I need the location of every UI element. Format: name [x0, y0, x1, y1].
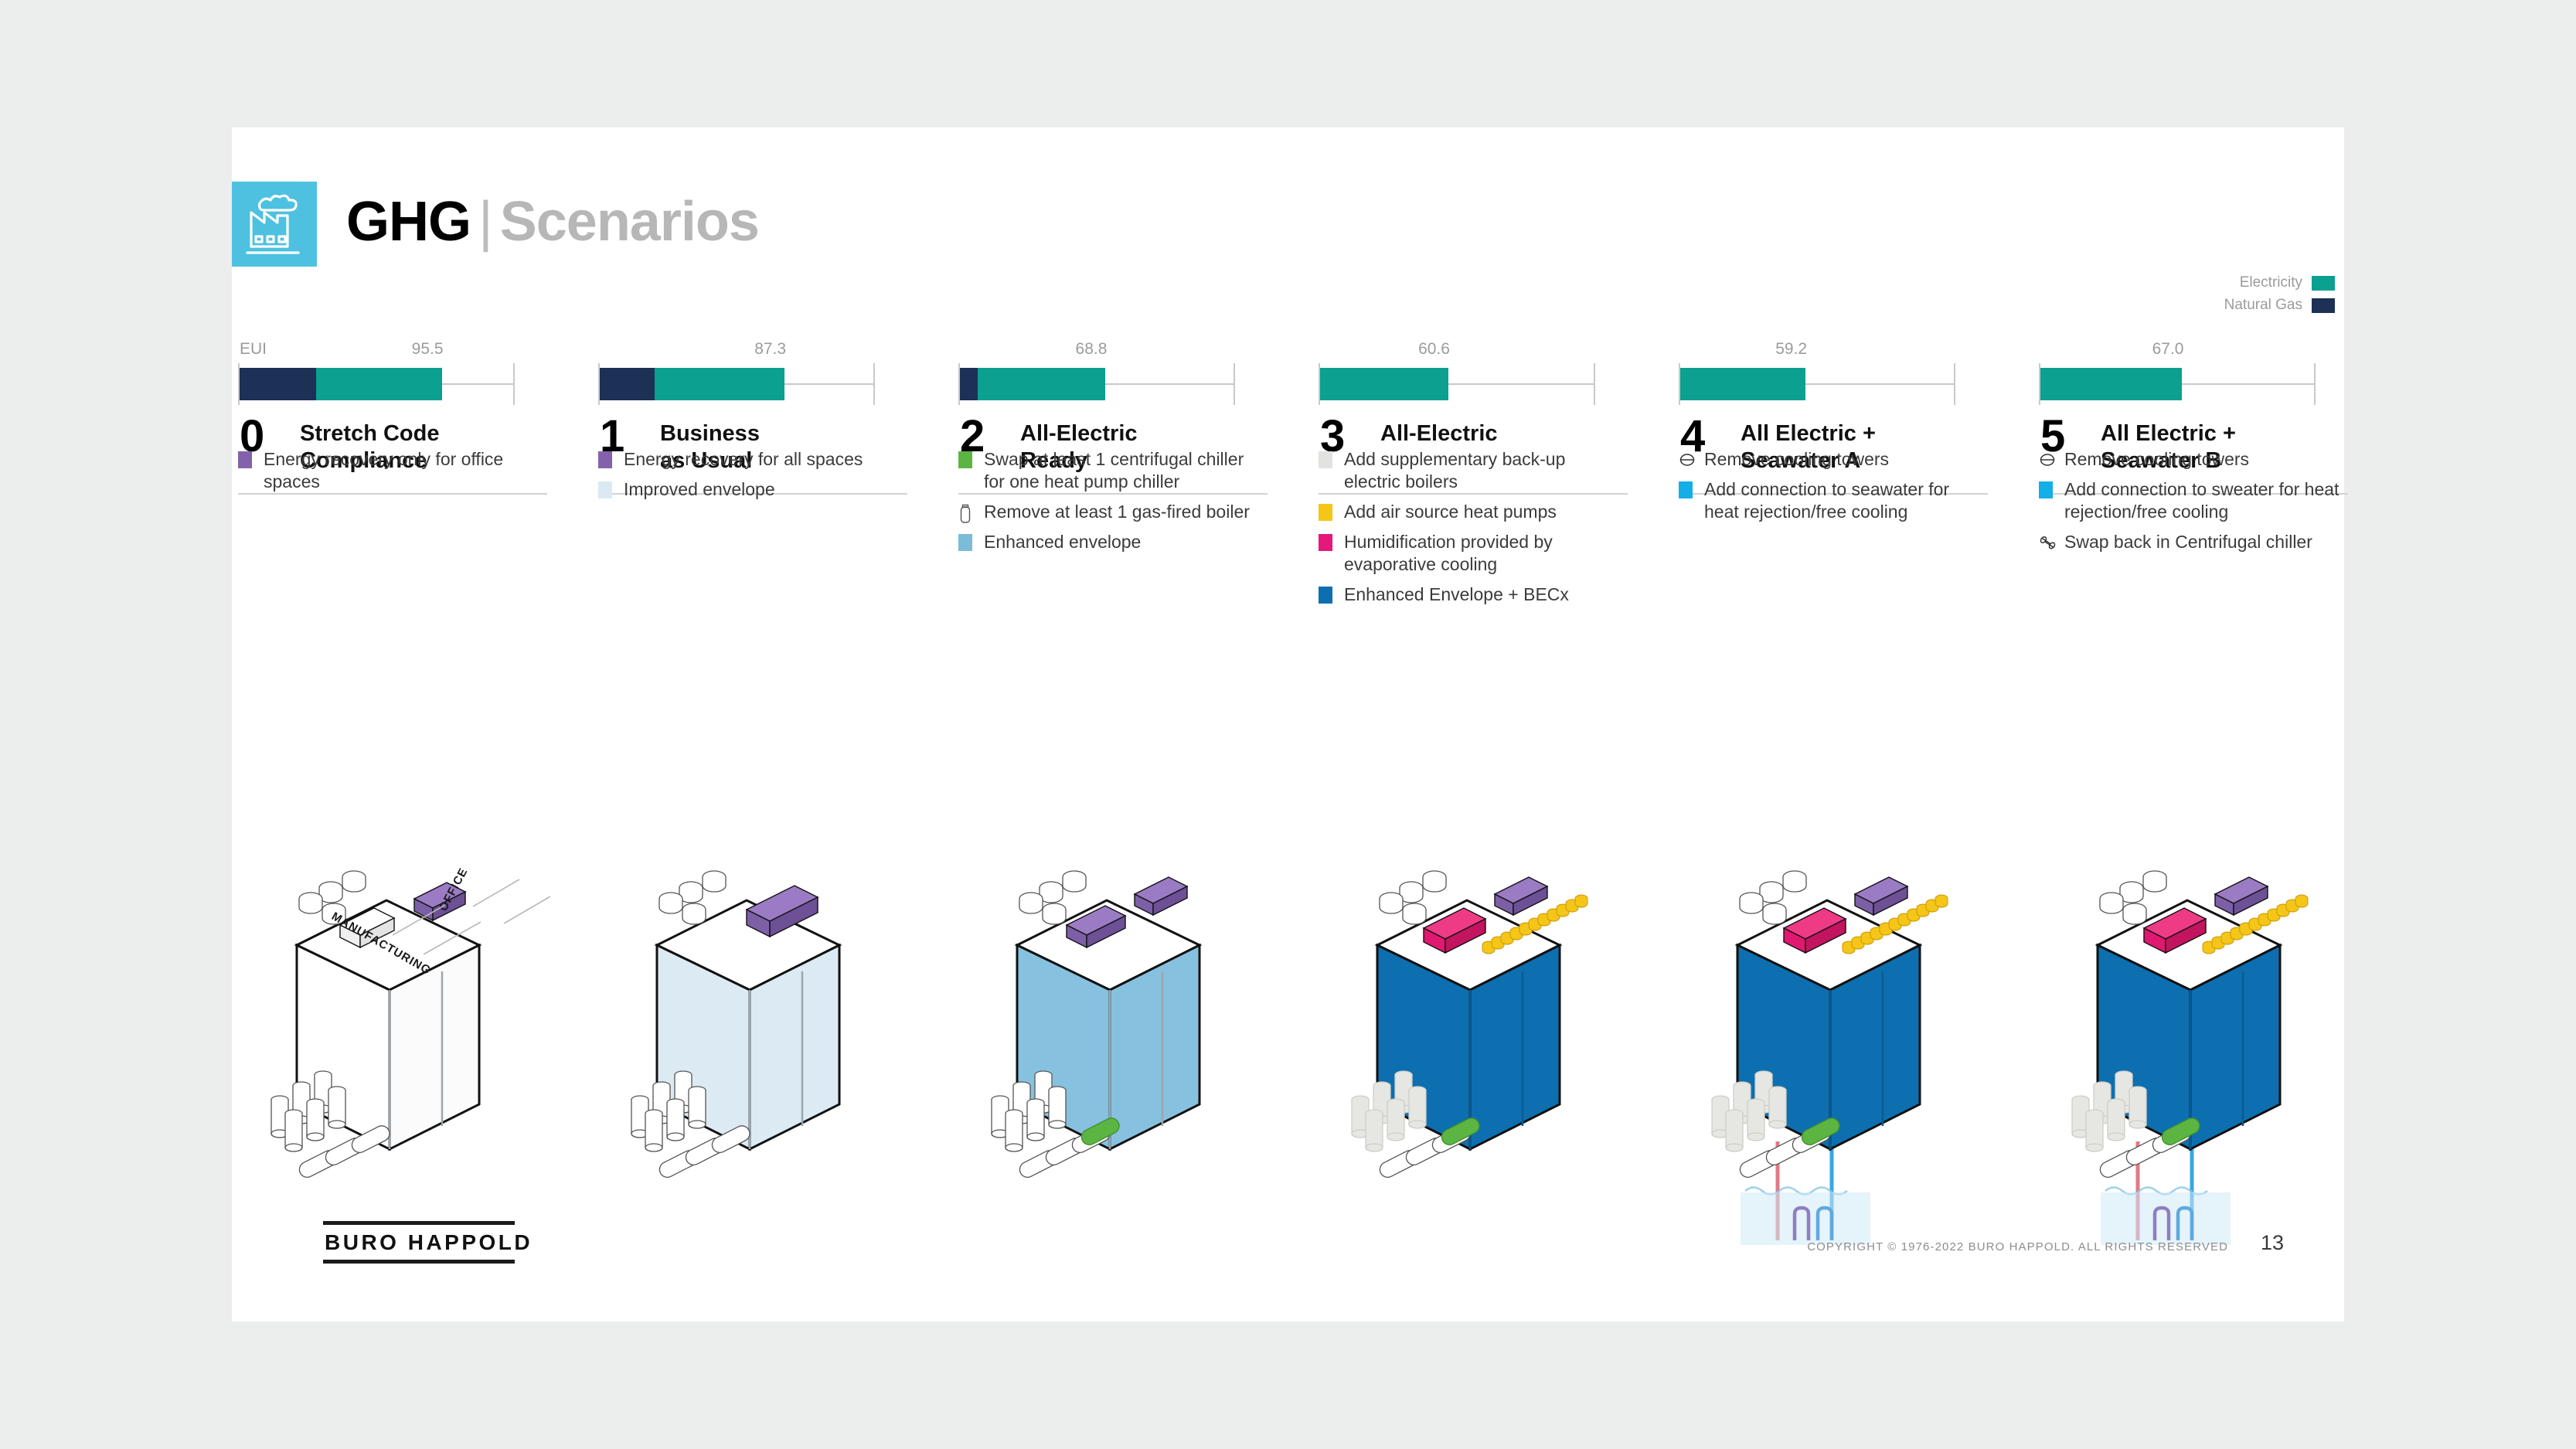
- scenario-bullet-list-2: Swap at least 1 centrifugal chiller for …: [958, 448, 1260, 561]
- bar-track: [238, 363, 547, 405]
- bullet-item: Improved envelope: [598, 478, 900, 501]
- bullet-text: Energy recovery only for office spaces: [264, 448, 539, 493]
- building-5[interactable]: [2002, 854, 2357, 1256]
- bullet-icon-wrap: [958, 534, 975, 551]
- page-number: 13: [2261, 1231, 2284, 1255]
- building-4[interactable]: [1642, 854, 1997, 1256]
- scenario-bullet-list-5: Remove cooling towersAdd connection to s…: [2039, 448, 2340, 561]
- bullet-text: Remove cooling towers: [2064, 448, 2249, 471]
- slide: GHG|Scenarios Electricity Natural Gas EU…: [232, 128, 2344, 1321]
- bullet-item: Enhanced Envelope + BECx: [1319, 583, 1620, 606]
- bar-total-value: 67.0: [2152, 340, 2184, 359]
- logo-rule-bottom: [323, 1260, 515, 1264]
- bullet-icon-wrap: [1319, 534, 1336, 551]
- bullet-text: Enhanced Envelope + BECx: [1344, 583, 1569, 606]
- bar-labels: EUI95.5: [238, 340, 547, 360]
- legend-item-electricity: Electricity: [2080, 274, 2335, 291]
- bar-total-value: 68.8: [1076, 340, 1108, 359]
- bullet-item: Energy recovery for all spaces: [598, 448, 900, 471]
- grey-square-swatch: [1319, 451, 1332, 468]
- bar-track: [598, 363, 907, 405]
- bar-track: [2039, 363, 2348, 405]
- bullet-icon-wrap: [1319, 587, 1336, 604]
- slide-canvas: GHG|Scenarios Electricity Natural Gas EU…: [0, 0, 2576, 1449]
- stacked-bar[interactable]: [240, 368, 442, 400]
- bullet-item: Energy recovery only for office spaces: [238, 448, 539, 493]
- bullet-icon-wrap: [2039, 451, 2056, 468]
- bullet-icon-wrap: [598, 451, 615, 468]
- bullet-icon-wrap: [1679, 481, 1696, 498]
- bullet-item: Enhanced envelope: [958, 531, 1260, 553]
- bullet-item: Add connection to sweater for heat rejec…: [2039, 478, 2340, 523]
- scenario-bullet-list-1: Energy recovery for all spacesImproved e…: [598, 448, 900, 509]
- bullet-text: Add connection to sweater for heat rejec…: [2064, 478, 2340, 523]
- purple-square-swatch: [598, 451, 612, 468]
- bullet-icon-wrap: [2039, 534, 2056, 551]
- bar-segment-natural-gas: [600, 368, 655, 400]
- roof-energy-recovery-unit: [1855, 877, 1907, 915]
- scenario-bullet-list-0: Energy recovery only for office spaces: [238, 448, 539, 501]
- light-blue-square-swatch: [958, 534, 972, 551]
- scenario-bullet-list-3: Add supplementary back-up electric boile…: [1319, 448, 1620, 614]
- bullet-item: Add connection to seawater for heat reje…: [1679, 478, 1980, 523]
- chiller-outline-icon: [2039, 534, 2057, 551]
- bar-labels: 67.0: [2039, 340, 2348, 360]
- bar-segment-electricity: [316, 368, 442, 400]
- roof-energy-recovery-unit: [2215, 877, 2268, 915]
- bullet-item: Add supplementary back-up electric boile…: [1319, 448, 1620, 493]
- stacked-bar[interactable]: [1680, 368, 1805, 400]
- title-separator: |: [471, 191, 500, 253]
- cooling-tower-outline-icon: [1679, 451, 1696, 468]
- stacked-bar[interactable]: [960, 368, 1105, 400]
- copyright-notice: COPYRIGHT © 1976-2022 BURO HAPPOLD. ALL …: [1807, 1240, 2228, 1253]
- roof-energy-recovery-unit-1: [1135, 877, 1187, 915]
- title-main: GHG: [346, 191, 471, 253]
- bullet-text: Improved envelope: [624, 478, 775, 501]
- building-diagram-1[interactable]: [561, 854, 917, 1256]
- bullet-text: Energy recovery for all spaces: [624, 448, 863, 471]
- bullet-item: Remove cooling towers: [2039, 448, 2340, 471]
- legend-label: Natural Gas: [2224, 297, 2302, 314]
- bar-segment-electricity: [1320, 368, 1448, 400]
- bullet-text: Add connection to seawater for heat reje…: [1704, 478, 1980, 523]
- legend-label: Electricity: [2240, 274, 2302, 291]
- bullet-text: Swap back in Centrifugal chiller: [2064, 531, 2312, 553]
- bar-track: [1679, 363, 1988, 405]
- legend-swatch-electricity: [2312, 276, 2335, 291]
- cooling-tower-outline-icon: [2039, 451, 2056, 468]
- bullet-icon-wrap: [1319, 451, 1336, 468]
- page-title: GHG|Scenarios: [346, 175, 759, 268]
- bullet-item: Swap at least 1 centrifugal chiller for …: [958, 448, 1260, 493]
- bar-total-value: 60.6: [1418, 340, 1450, 359]
- bullet-icon-wrap: [958, 451, 975, 468]
- building-diagram-3[interactable]: [1281, 854, 1637, 1256]
- building-diagram-2[interactable]: [921, 854, 1277, 1256]
- factory-emissions-icon: [232, 182, 317, 267]
- bullet-text: Remove at least 1 gas-fired boiler: [984, 501, 1250, 523]
- bullet-item: Humidification provided by evaporative c…: [1319, 531, 1620, 576]
- axis-caption-eui: EUI: [240, 340, 267, 359]
- roof-energy-recovery-unit: [1495, 877, 1547, 915]
- pink-square-swatch: [1319, 534, 1332, 551]
- stacked-bar[interactable]: [2040, 368, 2182, 400]
- logo-rule-top: [323, 1221, 515, 1225]
- bar-labels: 59.2: [1679, 340, 1988, 360]
- bullet-text: Humidification provided by evaporative c…: [1344, 531, 1620, 576]
- building-3[interactable]: [1281, 854, 1637, 1256]
- bar-total-value: 59.2: [1775, 340, 1807, 359]
- bullet-icon-wrap: [598, 481, 615, 498]
- bar-segment-electricity: [2040, 368, 2182, 400]
- title-sub: Scenarios: [500, 191, 759, 253]
- legend-item-natural-gas: Natural Gas: [2080, 297, 2335, 314]
- purple-square-swatch: [238, 451, 252, 468]
- building-1[interactable]: [561, 854, 917, 1256]
- bullet-icon-wrap: [2039, 481, 2056, 498]
- bar-labels: 68.8: [958, 340, 1268, 360]
- scenario-name: All-Electric: [1380, 420, 1498, 447]
- bar-total-value: 87.3: [754, 340, 786, 359]
- bullet-icon-wrap: [958, 504, 975, 521]
- scenario-bullet-list-4: Remove cooling towersAdd connection to s…: [1679, 448, 1980, 531]
- bullet-item: Remove cooling towers: [1679, 448, 1980, 471]
- logo-text: BURO HAPPOLD: [325, 1230, 533, 1255]
- bar-track: [958, 363, 1268, 405]
- yellow-square-swatch: [1319, 504, 1332, 521]
- bullet-icon-wrap: [1319, 504, 1336, 521]
- cyan-square-swatch: [2039, 481, 2053, 498]
- annotation-leader-lines: [309, 869, 587, 978]
- building-diagram-5[interactable]: [2002, 854, 2357, 1256]
- bullet-text: Add air source heat pumps: [1344, 501, 1557, 523]
- chart-legend: Electricity Natural Gas: [2080, 274, 2335, 319]
- bar-labels: 60.6: [1319, 340, 1628, 360]
- bullet-text: Remove cooling towers: [1704, 448, 1889, 471]
- legend-swatch-natural-gas: [2312, 298, 2335, 313]
- cyan-square-swatch: [1679, 481, 1693, 498]
- buro-happold-logo: BURO HAPPOLD: [323, 1221, 533, 1264]
- pale-blue-square-swatch: [598, 481, 612, 498]
- bullet-text: Enhanced envelope: [984, 531, 1141, 553]
- boiler-outline-icon: [958, 504, 972, 524]
- stacked-bar[interactable]: [600, 368, 784, 400]
- green-square-swatch: [958, 451, 972, 468]
- bar-segment-electricity: [978, 368, 1105, 400]
- bar-segment-natural-gas: [240, 368, 316, 400]
- stacked-bar[interactable]: [1320, 368, 1448, 400]
- bar-track: [1319, 363, 1628, 405]
- bullet-text: Swap at least 1 centrifugal chiller for …: [984, 448, 1260, 493]
- bar-segment-electricity: [1680, 368, 1805, 400]
- bullet-icon-wrap: [238, 451, 255, 468]
- bar-labels: 87.3: [598, 340, 907, 360]
- bar-segment-natural-gas: [960, 368, 978, 400]
- blue-square-swatch: [1319, 587, 1332, 604]
- bullet-icon-wrap: [1679, 451, 1696, 468]
- bullet-item: Add air source heat pumps: [1319, 501, 1620, 523]
- bar-total-value: 95.5: [412, 340, 444, 359]
- bullet-item: Swap back in Centrifugal chiller: [2039, 531, 2340, 553]
- bar-segment-electricity: [655, 368, 784, 400]
- building-2[interactable]: [921, 854, 1277, 1256]
- building-diagram-4[interactable]: [1642, 854, 1997, 1256]
- bullet-item: Remove at least 1 gas-fired boiler: [958, 501, 1260, 523]
- bullet-text: Add supplementary back-up electric boile…: [1344, 448, 1620, 493]
